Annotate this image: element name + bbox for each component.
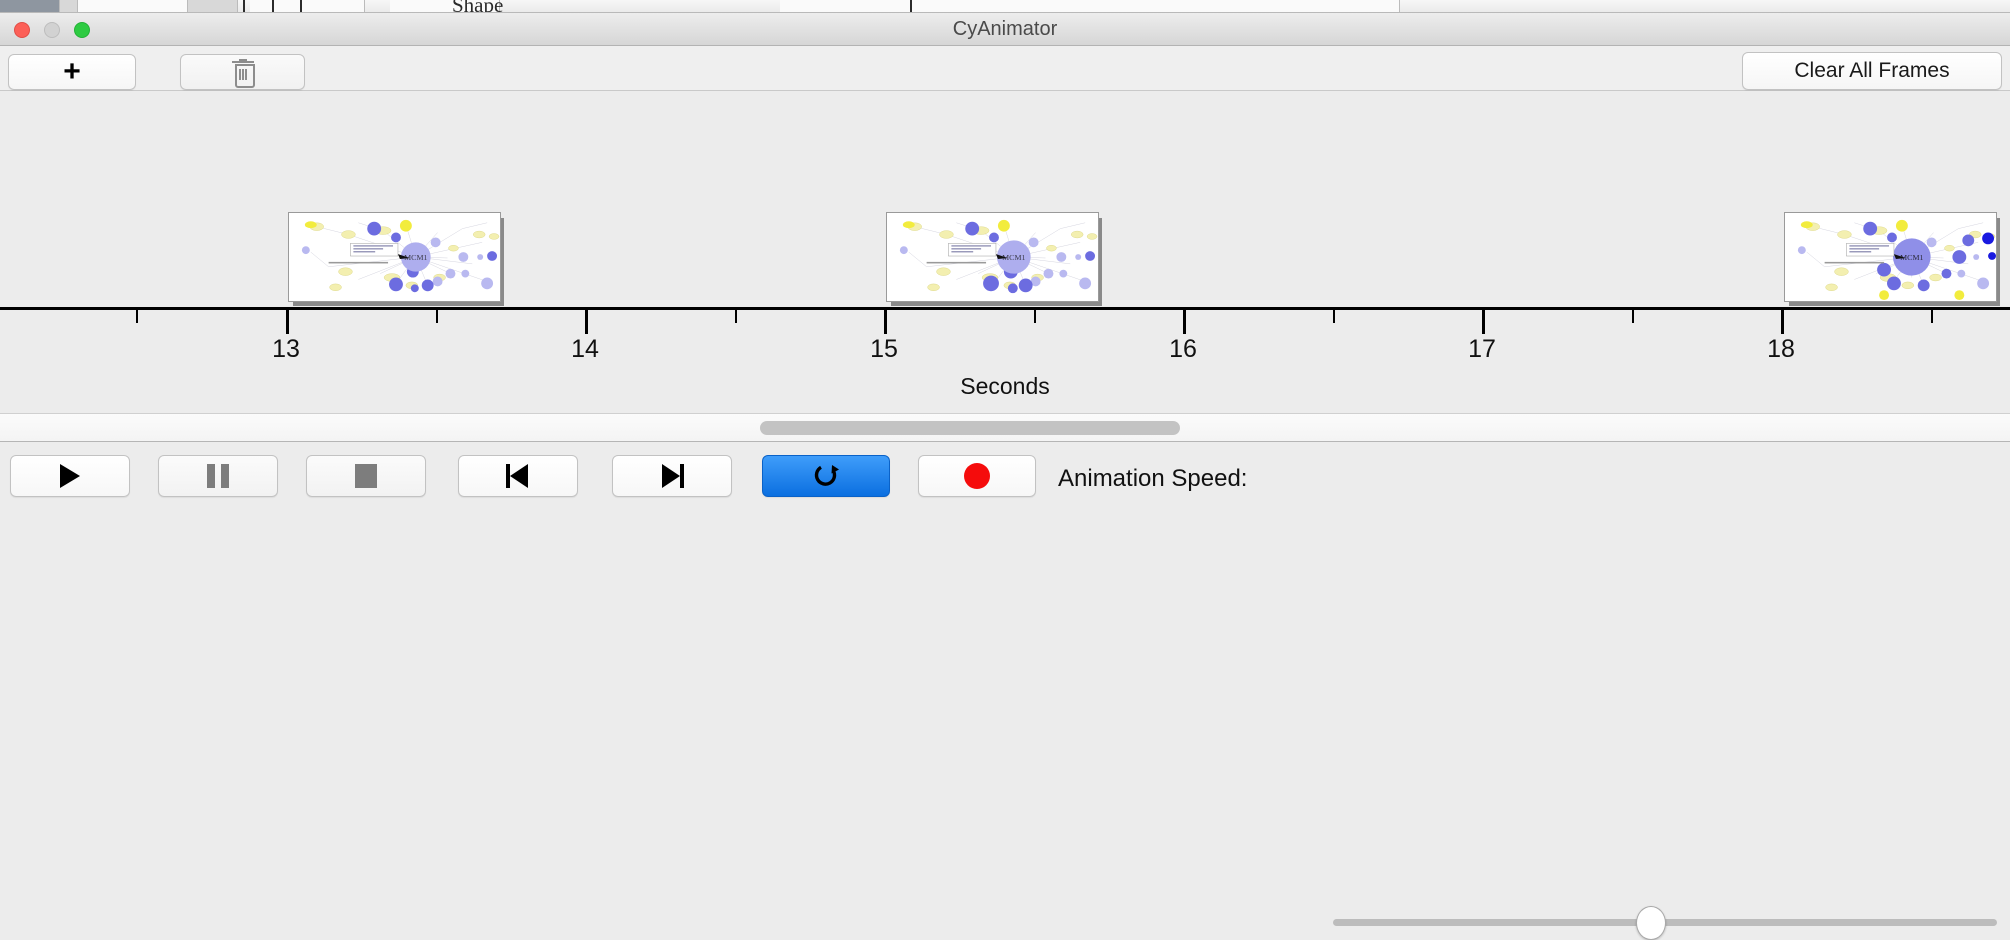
pause-button[interactable]: [158, 455, 278, 497]
axis-tick-minor: [1632, 310, 1634, 323]
bg-chip: [60, 0, 78, 13]
pause-icon: [207, 464, 229, 488]
timeline-panel[interactable]: MCM1: [0, 91, 2010, 414]
frame-thumbnail[interactable]: MCM1: [886, 212, 1099, 302]
bg-tick: [910, 0, 912, 13]
frame-thumbnail[interactable]: MCM1: [1784, 212, 1997, 302]
frame-toolbar: + Clear All Frames: [0, 46, 2010, 91]
bg-chip: [780, 0, 1400, 13]
axis-tick-major: [1482, 310, 1485, 334]
plus-icon: +: [63, 57, 81, 87]
axis-tick-major: [1183, 310, 1186, 334]
play-icon: [60, 464, 80, 488]
axis-tick-minor: [436, 310, 438, 323]
axis-tick-label: 16: [1169, 335, 1197, 364]
network-graph-thumbnail: MCM1: [289, 213, 500, 301]
axis-tick-minor: [735, 310, 737, 323]
axis-tick-minor: [136, 310, 138, 323]
record-button[interactable]: [918, 455, 1036, 497]
bg-tick: [272, 0, 274, 13]
delete-frame-button[interactable]: [180, 54, 305, 90]
clear-all-frames-label: Clear All Frames: [1794, 59, 1949, 83]
axis-tick-label: 15: [870, 335, 898, 364]
axis-tick-label: 18: [1767, 335, 1795, 364]
axis-caption: Seconds: [0, 373, 2010, 400]
add-frame-button[interactable]: +: [8, 54, 136, 90]
animation-speed-slider-thumb[interactable]: [1636, 906, 1666, 940]
background-shape-label: Shape: [452, 0, 503, 13]
playback-controls: Animation Speed:: [0, 443, 2010, 510]
timeline-scrollbar[interactable]: [0, 414, 2010, 442]
scrollbar-thumb[interactable]: [760, 421, 1180, 435]
axis-tick-major: [884, 310, 887, 334]
bg-tick: [300, 0, 302, 13]
bg-chip: [250, 0, 365, 13]
window-titlebar: CyAnimator: [0, 13, 2010, 46]
trash-icon: [232, 59, 254, 85]
window-title: CyAnimator: [0, 13, 2010, 46]
play-button[interactable]: [10, 455, 130, 497]
stop-icon: [355, 464, 377, 488]
loop-button[interactable]: [762, 455, 890, 497]
axis-tick-major: [286, 310, 289, 334]
skip-to-start-button[interactable]: [458, 455, 578, 497]
axis-tick-minor: [1333, 310, 1335, 323]
network-graph-thumbnail: MCM1: [1785, 213, 1996, 301]
bg-chip: [188, 0, 238, 13]
network-graph-thumbnail: MCM1: [887, 213, 1098, 301]
axis-tick-major: [1781, 310, 1784, 334]
skip-to-end-icon: [660, 464, 684, 488]
axis-tick-label: 13: [272, 335, 300, 364]
bg-chip: [78, 0, 188, 13]
timeline-axis: [0, 307, 2010, 310]
bg-tick: [243, 0, 245, 13]
frame-thumbnail[interactable]: MCM1: [288, 212, 501, 302]
stop-button[interactable]: [306, 455, 426, 497]
axis-tick-minor: [1034, 310, 1036, 323]
axis-tick-label: 14: [571, 335, 599, 364]
loop-icon: [812, 462, 840, 490]
bg-chip: [0, 0, 60, 13]
record-icon: [964, 463, 990, 489]
background-window-strip: Shape: [0, 0, 2010, 13]
axis-tick-minor: [1931, 310, 1933, 323]
axis-tick-major: [585, 310, 588, 334]
axis-tick-label: 17: [1468, 335, 1496, 364]
clear-all-frames-button[interactable]: Clear All Frames: [1742, 52, 2002, 90]
skip-to-end-button[interactable]: [612, 455, 732, 497]
animation-speed-label: Animation Speed:: [1058, 465, 1247, 493]
skip-to-start-icon: [506, 464, 530, 488]
